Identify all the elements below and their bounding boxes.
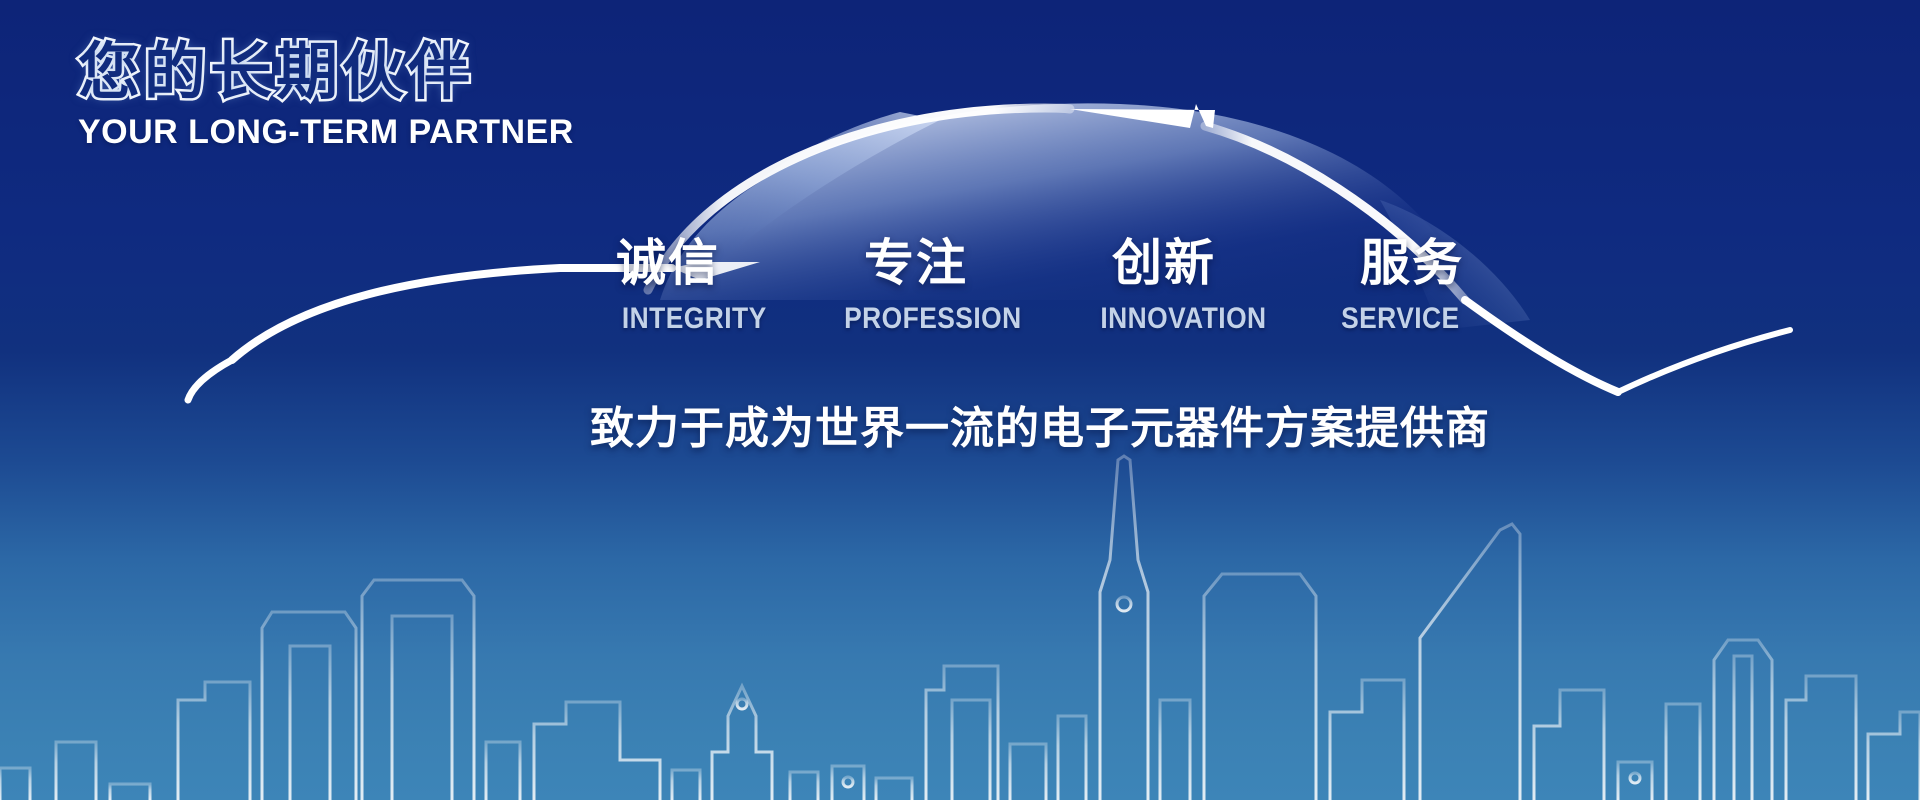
- value-chinese-profession: 专注: [864, 238, 968, 288]
- value-chinese-integrity: 诚信: [616, 238, 720, 288]
- headline-english: YOUR LONG-TERM PARTNER: [78, 113, 574, 152]
- value-english-innovation: INNOVATION: [1100, 302, 1266, 336]
- heading-block: 您的长期伙伴 YOUR LONG-TERM PARTNER: [78, 40, 574, 152]
- core-values-chinese-row: 诚信 专注 创新 服务: [610, 238, 1470, 288]
- value-english-service: SERVICE: [1341, 302, 1460, 336]
- core-values-english-row: INTEGRITY PROFESSION INNOVATION SERVICE: [610, 302, 1470, 336]
- core-values-block: 诚信 专注 创新 服务 INTEGRITY PROFESSION INNOVAT…: [610, 238, 1470, 336]
- headline-chinese: 您的长期伙伴: [78, 40, 574, 107]
- value-chinese-service: 服务: [1360, 238, 1464, 288]
- value-chinese-innovation: 创新: [1112, 238, 1216, 288]
- mission-tagline: 致力于成为世界一流的电子元器件方案提供商: [590, 392, 1490, 456]
- value-english-integrity: INTEGRITY: [622, 302, 767, 336]
- value-english-profession: PROFESSION: [844, 302, 1021, 336]
- promotional-banner: 您的长期伙伴 YOUR LONG-TERM PARTNER 诚信 专注 创新 服…: [0, 0, 1920, 800]
